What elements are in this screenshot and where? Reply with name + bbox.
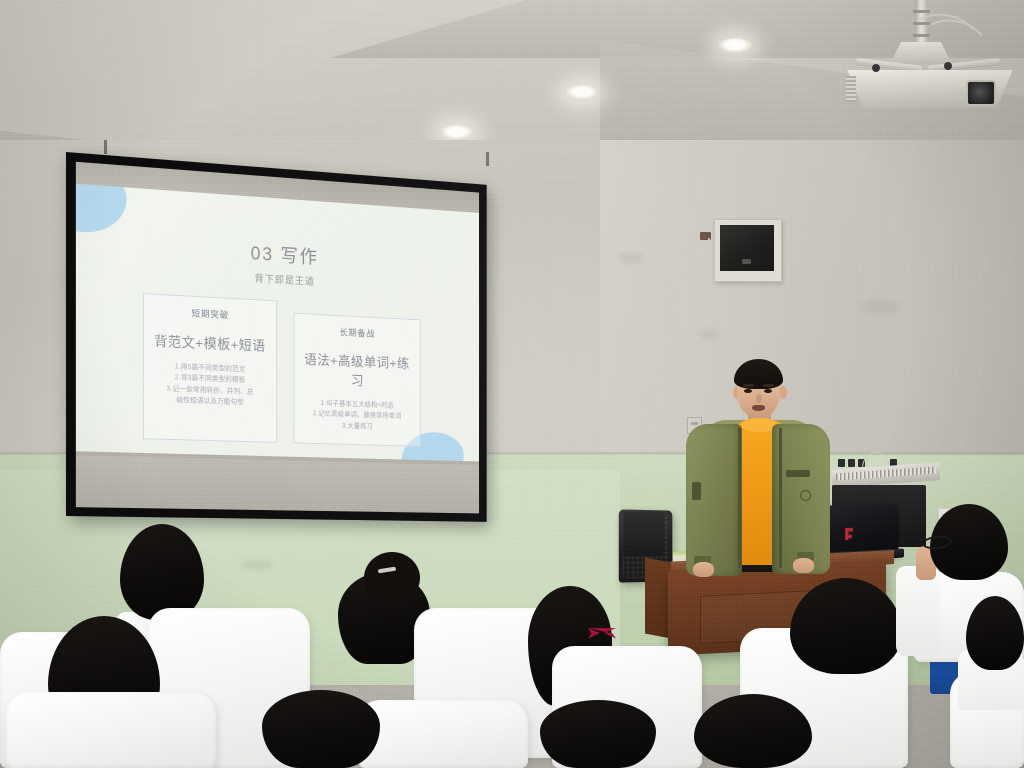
- wall-scuff: [618, 252, 644, 264]
- presenter-eye-left: [744, 389, 752, 393]
- audience-head: [540, 700, 656, 768]
- presenter-hand-left: [693, 562, 714, 577]
- wall-scuff: [700, 330, 718, 339]
- slide-card-short-term: 短期突破 背范文+模板+短语 1.用5篇不同类型的范文 2.背3篇不同类型的模板…: [142, 293, 276, 443]
- audience-arm: [896, 566, 940, 656]
- slide-card-long-term: 长期备战 语法+高级单词+练习 1.句子基本五大结构+时态 2.记忆高级单词、替…: [293, 313, 420, 447]
- presenter-nose: [756, 394, 762, 403]
- wall-scuff: [240, 560, 274, 570]
- mixer-knob: [848, 459, 855, 467]
- downlight-right: [718, 38, 752, 53]
- wall-speaker: [720, 225, 774, 271]
- presenter-brow-left: [743, 384, 754, 387]
- presenter-mouth: [752, 405, 765, 411]
- projection-screen: 03 写作 背下即是王道 短期突破 背范文+模板+短语 1.用5篇不同类型的范文…: [66, 152, 487, 522]
- presenter-ear-right: [779, 386, 787, 399]
- audience-hair-bun: [364, 552, 420, 604]
- presenter-jacket-zip-left: [738, 428, 741, 568]
- presenter-eye-right: [764, 389, 772, 393]
- projector-lens-icon: [966, 80, 996, 106]
- slide-card-main-text: 语法+高级单词+练习: [299, 350, 414, 393]
- downlight-left: [440, 125, 474, 140]
- presenter-jacket-left: [686, 424, 742, 576]
- slide-card-heading: 长期备战: [299, 324, 414, 342]
- slide-card-main-text: 背范文+模板+短语: [149, 331, 270, 356]
- slide-card-group: 短期突破 背范文+模板+短语 1.用5篇不同类型的范文 2.背3篇不同类型的模板…: [103, 291, 455, 448]
- screen-hanger-right: [486, 152, 489, 166]
- presenter-hand-right: [793, 558, 814, 573]
- screen-dead-area-bottom: [76, 455, 479, 513]
- downlight-center: [565, 85, 599, 100]
- audience-head: [262, 690, 380, 768]
- speaker-cable: [708, 238, 710, 300]
- chair-cover: [358, 700, 528, 768]
- chair-cover: [6, 692, 216, 768]
- presenter-jacket-zip-right: [779, 428, 782, 568]
- projected-slide: 03 写作 背下即是王道 短期突破 背范文+模板+短语 1.用5篇不同类型的范文…: [76, 184, 479, 462]
- classroom-photo-scene: 03 写作 背下即是王道 短期突破 背范文+模板+短语 1.用5篇不同类型的范文…: [0, 0, 1024, 768]
- projector-vent: [846, 76, 856, 102]
- projector-knob: [872, 64, 880, 72]
- screen-surface: 03 写作 背下即是王道 短期突破 背范文+模板+短语 1.用5篇不同类型的范文…: [76, 162, 479, 514]
- desktop-monitor-left: [623, 512, 664, 557]
- presenter-jacket-badge: [800, 490, 811, 501]
- presenter-brow-right: [763, 384, 774, 387]
- slide-card-heading: 短期突破: [149, 304, 270, 323]
- presenter-sleeve-patch: [692, 482, 701, 500]
- screen-hanger-left: [104, 140, 107, 154]
- presenter-jacket-pocket: [786, 470, 810, 477]
- mixer-knob: [838, 459, 845, 467]
- projector-pole-ring: [913, 10, 930, 13]
- wall-speaker-logo: [742, 259, 751, 264]
- wall-scuff: [860, 300, 900, 314]
